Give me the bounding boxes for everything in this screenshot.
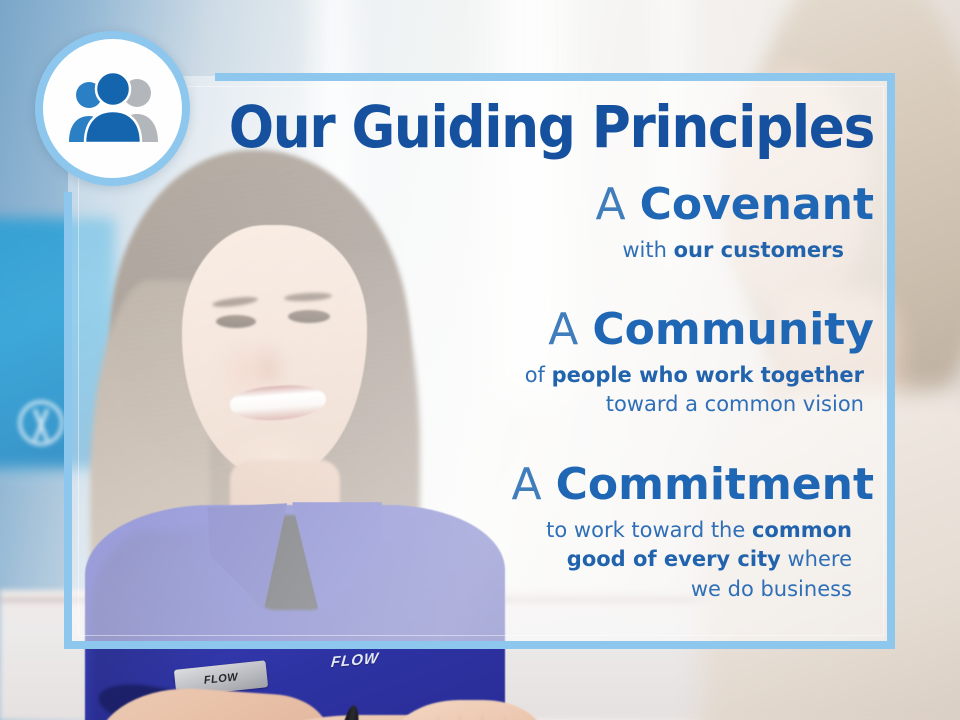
text-segment: our customers [674,238,844,262]
principle-covenant-article: A [595,179,625,230]
text-segment: toward a common vision [606,392,864,416]
text-segment: we do business [691,577,852,601]
name-badge-text: FLOW [203,671,238,687]
text-content: Our Guiding Principles A Covenant with o… [68,76,894,646]
chest-logo-text: FLOW [330,649,379,670]
principle-covenant: A Covenant with our customers [68,181,874,265]
guiding-principles-graphic: FLOW FLOW [0,0,960,720]
principle-covenant-heading: A Covenant [68,181,874,229]
text-segment: common [752,518,852,542]
text-segment: good of every city [567,547,781,571]
principle-commitment: A Commitment to work toward the commongo… [68,461,874,605]
principle-community-subtext: of people who work togethertoward a comm… [68,361,874,421]
principle-community-keyword: Community [592,304,874,355]
principle-covenant-keyword: Covenant [640,179,874,230]
principle-community-subtext-line: toward a common vision [68,390,864,420]
principle-community-subtext-line: of people who work together [68,361,864,391]
text-segment: with [622,238,673,262]
text-segment: where [781,547,852,571]
principle-community-heading: A Community [68,306,874,354]
principle-covenant-subtext-line: with our customers [68,236,844,266]
principle-commitment-keyword: Commitment [556,459,874,510]
text-segment: people who work together [552,363,864,387]
principle-commitment-subtext: to work toward the commongood of every c… [68,516,874,605]
text-segment: to work toward the [546,518,752,542]
principle-commitment-heading: A Commitment [68,461,874,509]
vw-logo-blurred-icon [18,400,64,446]
principle-commitment-subtext-line: we do business [68,575,852,605]
principle-community: A Community of people who work togethert… [68,306,874,420]
principle-commitment-article: A [512,459,542,510]
page-title: Our Guiding Principles [132,98,874,156]
principle-commitment-subtext-line: good of every city where [68,545,852,575]
text-segment: of [525,363,552,387]
principle-community-article: A [548,304,578,355]
principle-commitment-subtext-line: to work toward the common [68,516,852,546]
principle-covenant-subtext: with our customers [68,236,874,266]
